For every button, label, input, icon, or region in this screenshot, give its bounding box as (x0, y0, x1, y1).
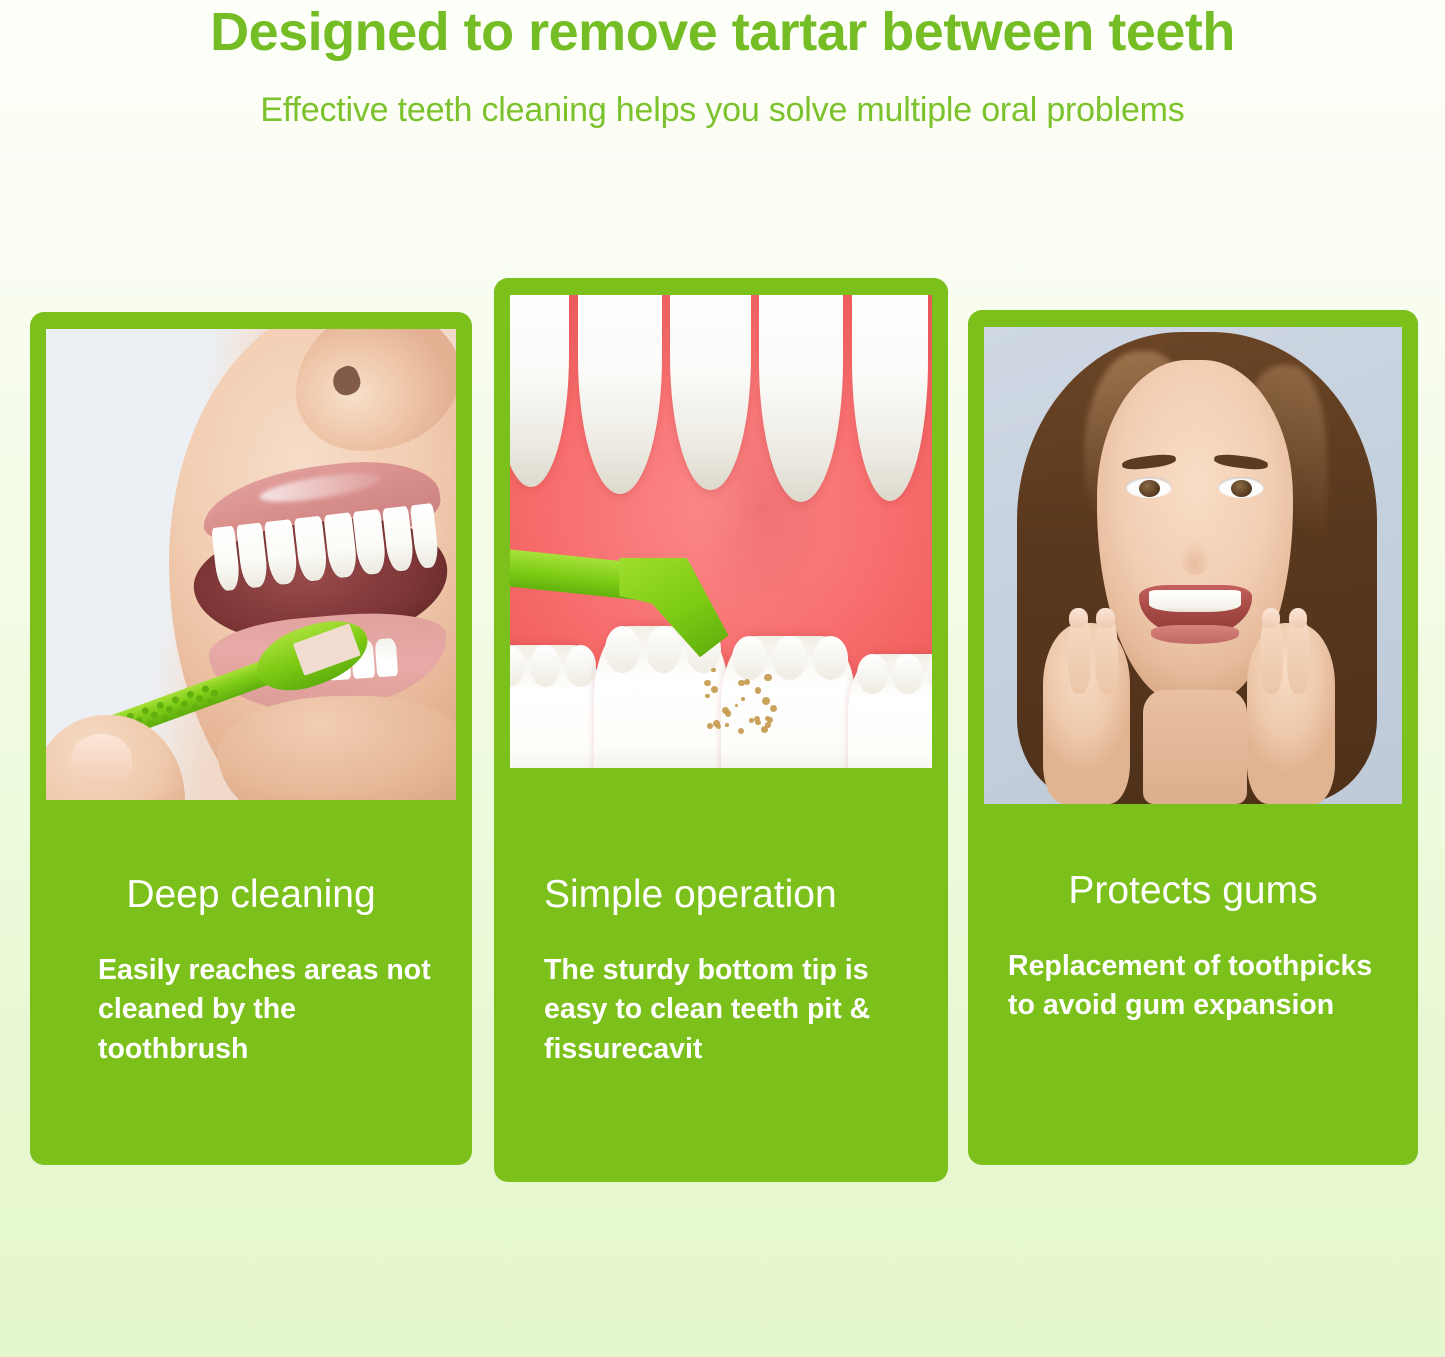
photo-smiling-woman-illustration (984, 327, 1402, 804)
card-description-simple-operation: The sturdy bottom tip is easy to clean t… (522, 917, 920, 1069)
card-description-deep-cleaning: Easily reaches areas not cleaned by the … (58, 917, 444, 1069)
card-title-deep-cleaning: Deep cleaning (58, 874, 444, 917)
card-title-protects-gums: Protects gums (996, 870, 1390, 913)
photo-flossing-profile-illustration (46, 329, 456, 800)
photo-tooth-cleaning-illustration (510, 295, 932, 768)
card-text-deep-cleaning: Deep cleaning Easily reaches areas not c… (30, 874, 472, 1069)
card-text-simple-operation: Simple operation The sturdy bottom tip i… (494, 874, 948, 1069)
card-photo-deep-cleaning (46, 329, 456, 800)
card-title-simple-operation: Simple operation (522, 874, 920, 917)
feature-card-protects-gums[interactable]: Protects gums Replacement of toothpicks … (968, 310, 1418, 1165)
feature-card-row: Deep cleaning Easily reaches areas not c… (0, 0, 1445, 1357)
feature-card-simple-operation[interactable]: Simple operation The sturdy bottom tip i… (494, 278, 948, 1182)
card-photo-protects-gums (984, 327, 1402, 804)
card-description-protects-gums: Replacement of toothpicks to avoid gum e… (996, 913, 1390, 1026)
feature-card-deep-cleaning[interactable]: Deep cleaning Easily reaches areas not c… (30, 312, 472, 1165)
card-text-protects-gums: Protects gums Replacement of toothpicks … (968, 870, 1418, 1026)
card-photo-simple-operation (510, 295, 932, 768)
